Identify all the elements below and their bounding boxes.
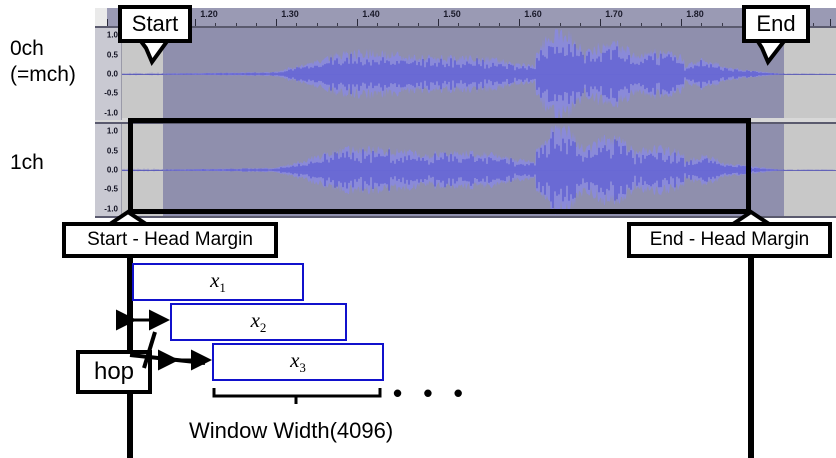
window-box-x2: x2 <box>170 303 347 341</box>
vscale-label: 0.0 <box>107 70 118 79</box>
ruler-tick-major <box>830 19 831 26</box>
callout-hop: hop <box>76 350 152 394</box>
window-label-x2: x2 <box>251 308 267 336</box>
callout-end-text: End <box>756 11 795 37</box>
vscale-label: -1.0 <box>104 108 118 117</box>
callout-start: Start <box>118 5 192 43</box>
vscale-label: 1.0 <box>107 31 118 40</box>
callout-start-head-margin-text: Start - Head Margin <box>87 229 253 251</box>
vscale-label: -0.5 <box>104 89 118 98</box>
ruler-tick-major <box>519 19 520 26</box>
ruler-tick-label: 1.60 <box>524 9 542 19</box>
window-box-x3: x3 <box>212 343 384 381</box>
audio-track-area: 01.201.301.401.501.601.701.801.902.0 1.0… <box>95 8 836 214</box>
ruler-tick-major <box>107 19 108 26</box>
ruler-tick-major <box>357 19 358 26</box>
vscale-label: 0.0 <box>107 166 118 175</box>
ruler-tick-major <box>276 19 277 26</box>
vscale-label: 0.5 <box>107 146 118 155</box>
channel-0-sublabel: (=mch) <box>10 62 76 87</box>
vscale-label: -0.5 <box>104 185 118 194</box>
callout-start-head-margin: Start - Head Margin <box>62 222 278 258</box>
ruler-tick-label: 1.80 <box>686 9 704 19</box>
ruler-tick-major <box>195 19 196 26</box>
window-width-label: Window Width(4096) <box>189 418 393 444</box>
vscale-label: 0.5 <box>107 50 118 59</box>
ruler-tick-label: 1.70 <box>605 9 623 19</box>
channel-1-label: 1ch <box>10 150 44 175</box>
ruler-tick-label: 1.30 <box>281 9 299 19</box>
ruler-tick-major <box>600 19 601 26</box>
waveform-ch1 <box>95 124 836 216</box>
callout-hop-text: hop <box>94 358 134 386</box>
window-label-x1: x1 <box>210 268 226 296</box>
channel-0-label: 0ch <box>10 36 44 61</box>
figure-root: 0ch (=mch) 1ch 01.201.301.401.501.601.70… <box>0 0 836 458</box>
callout-end: End <box>742 5 810 43</box>
ruler-tick-label: 1.40 <box>362 9 380 19</box>
callout-end-head-margin-text: End - Head Margin <box>650 229 809 251</box>
ellipsis-dots: • • • <box>393 378 470 409</box>
vscale-label: 1.0 <box>107 127 118 136</box>
vscale-label: -1.0 <box>104 204 118 213</box>
ruler-tick-label: 1.20 <box>200 9 218 19</box>
vertical-scale-ch1: 1.0 0.5 0.0 -0.5 -1.0 <box>95 124 122 216</box>
waveform-ch0 <box>95 28 836 120</box>
ruler-left-pad <box>95 8 107 26</box>
timeline-ruler[interactable]: 01.201.301.401.501.601.701.801.902.0 <box>95 8 836 28</box>
window-box-x1: x1 <box>132 263 304 301</box>
ruler-tick-label: 1.50 <box>443 9 461 19</box>
waveform-channel-0[interactable]: 1.0 0.5 0.0 -0.5 -1.0 <box>95 26 836 122</box>
callout-end-head-margin: End - Head Margin <box>627 222 832 258</box>
ruler-tick-major <box>681 19 682 26</box>
callout-start-text: Start <box>132 11 178 37</box>
waveform-channel-1[interactable]: 1.0 0.5 0.0 -0.5 -1.0 <box>95 122 836 218</box>
ruler-tick-major <box>438 19 439 26</box>
window-label-x3: x3 <box>290 348 306 376</box>
